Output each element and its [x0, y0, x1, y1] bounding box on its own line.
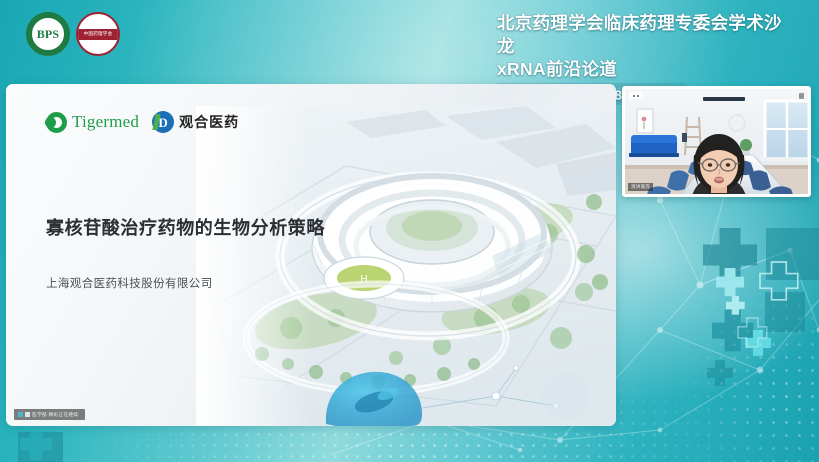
- video-control-badge-icon[interactable]: [629, 92, 643, 99]
- guanhe-wordmark: 观合医药: [179, 112, 239, 132]
- cpa-emblem-text: 中国药理学会: [78, 29, 118, 40]
- presentation-slide[interactable]: H: [6, 84, 616, 426]
- watermark-square-icon-2: [25, 412, 30, 417]
- webinar-screen: BPS 中国药理学会 北京药理学会临床药理专委会学术沙龙 xRNA前沿论道 20…: [0, 0, 819, 462]
- guanhe-logo: D 观合医药: [152, 111, 239, 133]
- bps-emblem-icon: BPS: [26, 12, 70, 56]
- slide-title: 寡核苷酸治疗药物的生物分析策略: [46, 214, 325, 240]
- guanhe-mark-icon: D: [152, 111, 174, 133]
- bps-emblem-text: BPS: [31, 17, 65, 51]
- tigermed-wordmark: Tigermed: [72, 112, 139, 132]
- watermark-square-icon: [18, 412, 23, 417]
- slide-organization: 上海观合医药科技股份有限公司: [46, 275, 213, 291]
- tigermed-mark-icon: [46, 112, 67, 133]
- cpa-emblem-icon: 中国药理学会: [76, 12, 120, 56]
- building-render-image: H: [196, 106, 616, 426]
- speaker-video-feed: [625, 89, 808, 194]
- speaker-video-frame: [625, 89, 808, 194]
- slide-logo-row: Tigermed D 观合医药: [46, 111, 239, 133]
- event-title-line2: xRNA前沿论道: [497, 58, 797, 81]
- header-emblems: BPS 中国药理学会: [26, 12, 120, 56]
- slide-watermark: 医学部·精彩正在继续: [14, 409, 85, 420]
- event-title-line1: 北京药理学会临床药理专委会学术沙龙: [497, 12, 797, 58]
- speaker-video-tile[interactable]: 演讲嘉宾: [622, 86, 811, 197]
- tigermed-logo: Tigermed: [46, 112, 139, 133]
- speaker-name-label: 演讲嘉宾: [628, 183, 653, 191]
- video-corner-icon[interactable]: [799, 93, 804, 99]
- watermark-text: 医学部·精彩正在继续: [32, 411, 78, 418]
